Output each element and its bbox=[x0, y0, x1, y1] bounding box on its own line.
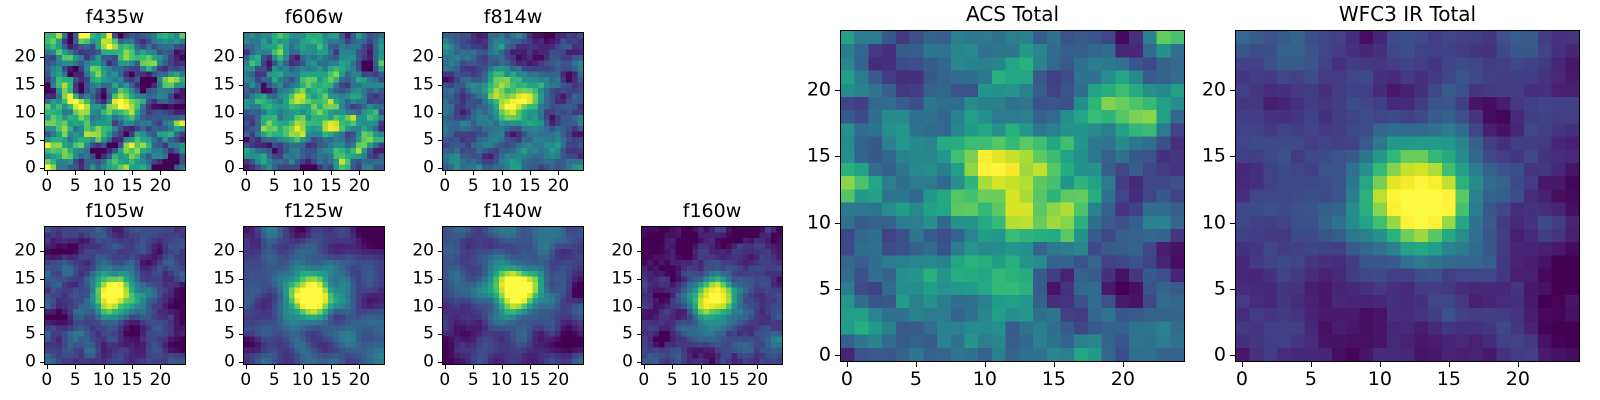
x-tick bbox=[359, 365, 360, 369]
y-tick-label: 0 bbox=[402, 160, 434, 177]
y-tick bbox=[40, 85, 44, 86]
x-tick-label: 0 bbox=[439, 178, 450, 195]
x-tick-label: 15 bbox=[1437, 370, 1461, 389]
x-tick-label: 10 bbox=[491, 178, 513, 195]
panel-f125w: f125w0510152005101520 bbox=[203, 202, 385, 393]
x-tick bbox=[47, 171, 48, 175]
heatmap-image bbox=[244, 227, 384, 364]
panel-f606w: f606w0510152005101520 bbox=[203, 8, 385, 199]
y-tick-label: 5 bbox=[402, 326, 434, 343]
x-tick bbox=[701, 365, 702, 369]
y-tick bbox=[40, 57, 44, 58]
x-tick-label: 5 bbox=[468, 178, 479, 195]
y-tick-label: 20 bbox=[4, 243, 36, 260]
x-tick bbox=[160, 365, 161, 369]
y-tick bbox=[40, 113, 44, 114]
y-tick bbox=[40, 334, 44, 335]
x-tick-label: 5 bbox=[70, 372, 81, 389]
heatmap-image bbox=[45, 227, 185, 364]
heatmap-axes bbox=[44, 32, 186, 171]
x-tick-label: 20 bbox=[1506, 370, 1530, 389]
heatmap-image bbox=[443, 227, 583, 364]
x-tick-label: 5 bbox=[468, 372, 479, 389]
heatmap-axes bbox=[840, 30, 1185, 362]
panel-wfc3-ir-total: WFC3 IR Total0510152005101520 bbox=[1183, 4, 1580, 394]
y-tick bbox=[40, 307, 44, 308]
y-tick-label: 10 bbox=[601, 298, 633, 315]
x-tick bbox=[303, 171, 304, 175]
x-tick-label: 0 bbox=[439, 372, 450, 389]
x-tick-label: 10 bbox=[690, 372, 712, 389]
x-tick-label: 15 bbox=[320, 372, 342, 389]
heatmap-image bbox=[841, 31, 1184, 361]
heatmap-image bbox=[244, 33, 384, 170]
x-tick-label: 15 bbox=[718, 372, 740, 389]
heatmap-image bbox=[1236, 31, 1579, 361]
x-tick-label: 0 bbox=[841, 370, 853, 389]
y-tick-label: 15 bbox=[4, 270, 36, 287]
x-tick bbox=[47, 365, 48, 369]
y-tick-label: 10 bbox=[203, 104, 235, 121]
heatmap-axes bbox=[442, 32, 584, 171]
panel-title: ACS Total bbox=[840, 4, 1185, 24]
x-tick bbox=[473, 365, 474, 369]
y-tick-label: 15 bbox=[203, 270, 235, 287]
x-tick-label: 5 bbox=[269, 178, 280, 195]
x-tick bbox=[558, 171, 559, 175]
panel-f435w: f435w0510152005101520 bbox=[4, 8, 186, 199]
y-tick-label: 20 bbox=[402, 243, 434, 260]
x-tick-label: 0 bbox=[240, 178, 251, 195]
y-tick-label: 20 bbox=[1183, 80, 1226, 99]
y-tick bbox=[438, 57, 442, 58]
y-tick-label: 0 bbox=[203, 160, 235, 177]
x-tick bbox=[1123, 362, 1124, 367]
y-tick bbox=[40, 279, 44, 280]
panel-title: f125w bbox=[243, 202, 385, 221]
y-tick-label: 5 bbox=[203, 326, 235, 343]
x-tick bbox=[644, 365, 645, 369]
y-tick-label: 5 bbox=[4, 326, 36, 343]
y-tick-label: 10 bbox=[4, 104, 36, 121]
y-tick-label: 0 bbox=[1183, 346, 1226, 365]
y-tick bbox=[637, 362, 641, 363]
y-tick bbox=[239, 140, 243, 141]
x-tick-label: 10 bbox=[292, 178, 314, 195]
y-tick-label: 5 bbox=[1183, 279, 1226, 298]
x-tick-label: 20 bbox=[349, 372, 371, 389]
x-tick-label: 10 bbox=[93, 372, 115, 389]
y-tick-label: 10 bbox=[4, 298, 36, 315]
y-tick bbox=[239, 307, 243, 308]
y-tick bbox=[438, 334, 442, 335]
x-tick bbox=[1311, 362, 1312, 367]
panel-f160w: f160w0510152005101520 bbox=[601, 202, 783, 393]
x-tick bbox=[75, 171, 76, 175]
y-tick-label: 15 bbox=[601, 270, 633, 287]
y-tick-label: 0 bbox=[4, 354, 36, 371]
x-tick bbox=[1242, 362, 1243, 367]
y-tick bbox=[1230, 90, 1235, 91]
x-tick-label: 10 bbox=[491, 372, 513, 389]
x-tick bbox=[160, 171, 161, 175]
y-tick bbox=[239, 362, 243, 363]
x-tick-label: 5 bbox=[269, 372, 280, 389]
y-tick-label: 20 bbox=[4, 49, 36, 66]
y-tick-label: 0 bbox=[788, 346, 831, 365]
y-tick bbox=[40, 362, 44, 363]
y-tick-label: 10 bbox=[402, 104, 434, 121]
x-tick-label: 10 bbox=[1368, 370, 1392, 389]
heatmap-axes bbox=[442, 226, 584, 365]
x-tick bbox=[331, 171, 332, 175]
x-tick bbox=[502, 171, 503, 175]
y-tick-label: 20 bbox=[203, 243, 235, 260]
y-tick-label: 15 bbox=[402, 270, 434, 287]
x-tick bbox=[985, 362, 986, 367]
y-tick-label: 0 bbox=[402, 354, 434, 371]
y-tick-label: 20 bbox=[788, 80, 831, 99]
x-tick bbox=[847, 362, 848, 367]
x-tick-label: 20 bbox=[150, 372, 172, 389]
x-tick bbox=[530, 365, 531, 369]
x-tick bbox=[246, 365, 247, 369]
x-tick-label: 0 bbox=[1236, 370, 1248, 389]
y-tick bbox=[239, 113, 243, 114]
y-tick-label: 5 bbox=[788, 279, 831, 298]
x-tick bbox=[303, 365, 304, 369]
panel-title: f435w bbox=[44, 8, 186, 27]
x-tick bbox=[274, 171, 275, 175]
y-tick bbox=[438, 251, 442, 252]
y-tick bbox=[1230, 156, 1235, 157]
x-tick bbox=[359, 171, 360, 175]
x-tick-label: 15 bbox=[519, 178, 541, 195]
x-tick bbox=[132, 171, 133, 175]
x-tick-label: 5 bbox=[70, 178, 81, 195]
x-tick bbox=[274, 365, 275, 369]
y-tick bbox=[239, 168, 243, 169]
y-tick-label: 10 bbox=[203, 298, 235, 315]
x-tick-label: 15 bbox=[121, 372, 143, 389]
x-tick-label: 20 bbox=[349, 178, 371, 195]
x-tick-label: 15 bbox=[519, 372, 541, 389]
y-tick bbox=[438, 113, 442, 114]
heatmap-axes bbox=[243, 32, 385, 171]
x-tick bbox=[502, 365, 503, 369]
x-tick-label: 20 bbox=[747, 372, 769, 389]
panel-title: WFC3 IR Total bbox=[1235, 4, 1580, 24]
x-tick-label: 20 bbox=[548, 372, 570, 389]
y-tick bbox=[239, 251, 243, 252]
y-tick bbox=[239, 279, 243, 280]
y-tick-label: 15 bbox=[788, 147, 831, 166]
y-tick bbox=[637, 307, 641, 308]
x-tick-label: 10 bbox=[973, 370, 997, 389]
y-tick-label: 15 bbox=[203, 76, 235, 93]
y-tick bbox=[40, 168, 44, 169]
y-tick bbox=[835, 289, 840, 290]
x-tick-label: 20 bbox=[1111, 370, 1135, 389]
y-tick bbox=[835, 90, 840, 91]
heatmap-image bbox=[443, 33, 583, 170]
x-tick bbox=[331, 365, 332, 369]
y-tick bbox=[637, 279, 641, 280]
y-tick-label: 0 bbox=[4, 160, 36, 177]
y-tick-label: 10 bbox=[1183, 213, 1226, 232]
x-tick-label: 10 bbox=[292, 372, 314, 389]
y-tick bbox=[239, 85, 243, 86]
y-tick bbox=[40, 251, 44, 252]
x-tick bbox=[473, 171, 474, 175]
y-tick bbox=[438, 279, 442, 280]
x-tick bbox=[757, 365, 758, 369]
y-tick-label: 5 bbox=[402, 132, 434, 149]
heatmap-axes bbox=[243, 226, 385, 365]
x-tick-label: 0 bbox=[638, 372, 649, 389]
y-tick bbox=[239, 57, 243, 58]
y-tick bbox=[438, 140, 442, 141]
y-tick bbox=[239, 334, 243, 335]
y-tick-label: 15 bbox=[402, 76, 434, 93]
y-tick-label: 0 bbox=[203, 354, 235, 371]
x-tick bbox=[104, 365, 105, 369]
heatmap-image bbox=[45, 33, 185, 170]
panel-title: f160w bbox=[641, 202, 783, 221]
x-tick bbox=[132, 365, 133, 369]
y-tick bbox=[1230, 355, 1235, 356]
y-tick bbox=[438, 362, 442, 363]
panel-title: f814w bbox=[442, 8, 584, 27]
y-tick-label: 5 bbox=[4, 132, 36, 149]
x-tick-label: 5 bbox=[667, 372, 678, 389]
x-tick bbox=[530, 171, 531, 175]
panel-f140w: f140w0510152005101520 bbox=[402, 202, 584, 393]
y-tick bbox=[835, 156, 840, 157]
y-tick-label: 15 bbox=[4, 76, 36, 93]
x-tick-label: 0 bbox=[41, 372, 52, 389]
y-tick-label: 5 bbox=[601, 326, 633, 343]
x-tick-label: 5 bbox=[1305, 370, 1317, 389]
x-tick bbox=[558, 365, 559, 369]
y-tick bbox=[1230, 223, 1235, 224]
y-tick-label: 20 bbox=[601, 243, 633, 260]
heatmap-axes bbox=[641, 226, 783, 365]
y-tick bbox=[835, 355, 840, 356]
x-tick bbox=[445, 171, 446, 175]
y-tick bbox=[637, 251, 641, 252]
x-tick bbox=[1380, 362, 1381, 367]
x-tick-label: 0 bbox=[41, 178, 52, 195]
heatmap-image bbox=[642, 227, 782, 364]
x-tick-label: 20 bbox=[150, 178, 172, 195]
panel-title: f606w bbox=[243, 8, 385, 27]
y-tick bbox=[40, 140, 44, 141]
x-tick bbox=[246, 171, 247, 175]
y-tick-label: 5 bbox=[203, 132, 235, 149]
heatmap-axes bbox=[44, 226, 186, 365]
x-tick bbox=[729, 365, 730, 369]
x-tick bbox=[1518, 362, 1519, 367]
y-tick-label: 20 bbox=[203, 49, 235, 66]
x-tick bbox=[672, 365, 673, 369]
y-tick-label: 10 bbox=[402, 298, 434, 315]
panel-title: f140w bbox=[442, 202, 584, 221]
y-tick-label: 10 bbox=[788, 213, 831, 232]
panel-f814w: f814w0510152005101520 bbox=[402, 8, 584, 199]
x-tick-label: 20 bbox=[548, 178, 570, 195]
x-tick-label: 0 bbox=[240, 372, 251, 389]
x-tick-label: 5 bbox=[910, 370, 922, 389]
y-tick bbox=[438, 168, 442, 169]
heatmap-axes bbox=[1235, 30, 1580, 362]
y-tick-label: 0 bbox=[601, 354, 633, 371]
x-tick bbox=[916, 362, 917, 367]
panel-title: f105w bbox=[44, 202, 186, 221]
x-tick bbox=[75, 365, 76, 369]
y-tick bbox=[835, 223, 840, 224]
y-tick bbox=[1230, 289, 1235, 290]
y-tick bbox=[438, 85, 442, 86]
x-tick-label: 10 bbox=[93, 178, 115, 195]
x-tick-label: 15 bbox=[121, 178, 143, 195]
x-tick bbox=[1449, 362, 1450, 367]
x-tick-label: 15 bbox=[1042, 370, 1066, 389]
y-tick-label: 15 bbox=[1183, 147, 1226, 166]
y-tick bbox=[637, 334, 641, 335]
x-tick bbox=[1054, 362, 1055, 367]
y-tick bbox=[438, 307, 442, 308]
x-tick bbox=[104, 171, 105, 175]
x-tick-label: 15 bbox=[320, 178, 342, 195]
panel-acs-total: ACS Total0510152005101520 bbox=[788, 4, 1185, 394]
x-tick bbox=[445, 365, 446, 369]
panel-f105w: f105w0510152005101520 bbox=[4, 202, 186, 393]
y-tick-label: 20 bbox=[402, 49, 434, 66]
